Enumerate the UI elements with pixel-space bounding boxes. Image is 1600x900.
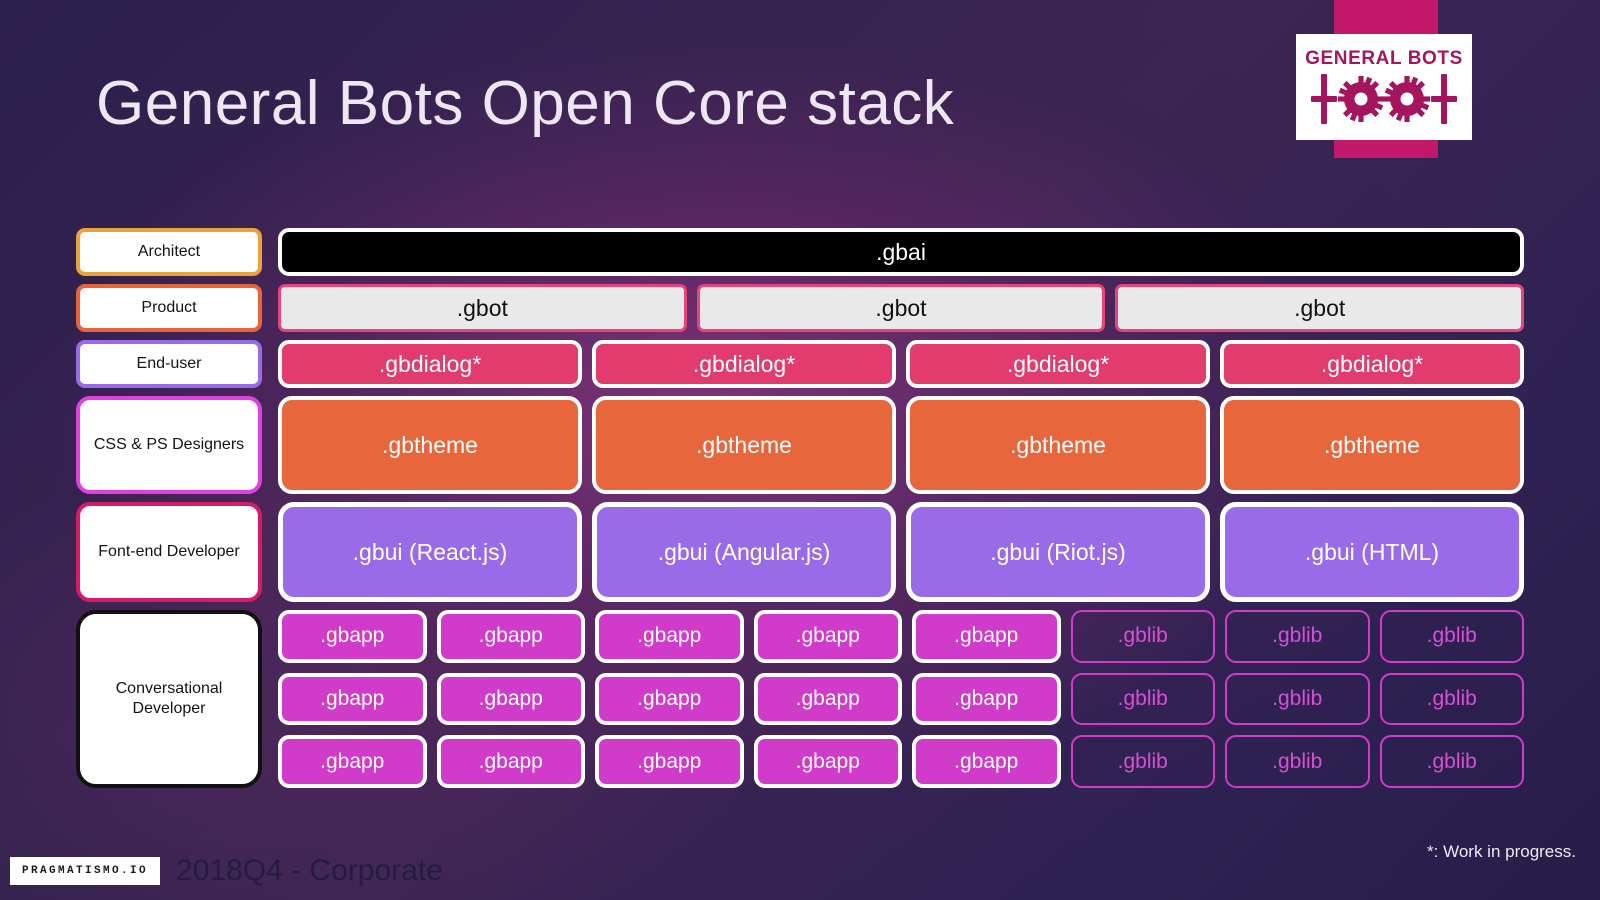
layer-box-gbapp[interactable]: .gbapp [437, 735, 586, 788]
conversational-grid: .gbapp .gbapp .gbapp .gbapp .gbapp .gbli… [278, 610, 1524, 788]
stack-row-enduser: End-user .gbdialog* .gbdialog* .gbdialog… [76, 340, 1524, 388]
role-label-product: Product [76, 284, 262, 332]
layer-box-gbapp[interactable]: .gbapp [437, 673, 586, 726]
layer-box-gbapp[interactable]: .gbapp [912, 610, 1061, 663]
role-label-designer: CSS & PS Designers [76, 396, 262, 494]
role-cell-frontend: Font-end Developer [76, 502, 262, 602]
conversational-grid-row: .gbapp .gbapp .gbapp .gbapp .gbapp .gbli… [278, 610, 1524, 663]
slide-canvas: GENERAL BOTS [0, 0, 1600, 900]
layer-box-gbtheme[interactable]: .gbtheme [906, 396, 1210, 494]
stack-row-architect: Architect .gbai [76, 228, 1524, 276]
layer-box-gbui[interactable]: .gbui (Angular.js) [592, 502, 896, 602]
stack-row-conversational: Conversational Developer .gbapp .gbapp .… [76, 610, 1524, 788]
layer-box-gbapp[interactable]: .gbapp [278, 610, 427, 663]
layer-box-gblib[interactable]: .gblib [1225, 735, 1370, 788]
layer-box-gbapp[interactable]: .gbapp [754, 610, 903, 663]
stack-row-designer: CSS & PS Designers .gbtheme .gbtheme .gb… [76, 396, 1524, 494]
layer-box-gbtheme[interactable]: .gbtheme [592, 396, 896, 494]
page-title: General Bots Open Core stack [96, 68, 954, 139]
stack-row-product: Product .gbot .gbot .gbot [76, 284, 1524, 332]
layer-box-gbapp[interactable]: .gbapp [595, 735, 744, 788]
layer-cells-gbtheme: .gbtheme .gbtheme .gbtheme .gbtheme [278, 396, 1524, 494]
layer-box-gbui[interactable]: .gbui (HTML) [1220, 502, 1524, 602]
layer-box-gbot[interactable]: .gbot [278, 284, 687, 332]
layer-box-gbui[interactable]: .gbui (React.js) [278, 502, 582, 602]
deck-label: 2018Q4 - Corporate [176, 854, 443, 888]
layer-box-gblib[interactable]: .gblib [1071, 673, 1216, 726]
role-cell-architect: Architect [76, 228, 262, 276]
layer-box-gbui[interactable]: .gbui (Riot.js) [906, 502, 1210, 602]
layer-cells-gbot: .gbot .gbot .gbot [278, 284, 1524, 332]
role-label-frontend: Font-end Developer [76, 502, 262, 602]
layer-cells-gbai: .gbai [278, 228, 1524, 276]
layer-box-gbot[interactable]: .gbot [1115, 284, 1524, 332]
layer-box-gbtheme[interactable]: .gbtheme [278, 396, 582, 494]
layer-box-gbot[interactable]: .gbot [697, 284, 1106, 332]
footnote-work-in-progress: *: Work in progress. [1427, 842, 1576, 862]
role-cell-product: Product [76, 284, 262, 332]
layer-box-gbtheme[interactable]: .gbtheme [1220, 396, 1524, 494]
layer-box-gbapp[interactable]: .gbapp [278, 735, 427, 788]
layer-box-gbapp[interactable]: .gbapp [437, 610, 586, 663]
layer-box-gbapp[interactable]: .gbapp [595, 673, 744, 726]
conversational-grid-row: .gbapp .gbapp .gbapp .gbapp .gbapp .gbli… [278, 735, 1524, 788]
role-cell-conversational: Conversational Developer [76, 610, 262, 788]
role-cell-enduser: End-user [76, 340, 262, 388]
pragmatismo-logo: PRAGMATISMO.IO [10, 857, 160, 885]
layer-box-gbai[interactable]: .gbai [278, 228, 1524, 276]
stack-row-frontend: Font-end Developer .gbui (React.js) .gbu… [76, 502, 1524, 602]
role-cell-designer: CSS & PS Designers [76, 396, 262, 494]
layer-box-gbapp[interactable]: .gbapp [754, 673, 903, 726]
layer-box-gbdialog[interactable]: .gbdialog* [906, 340, 1210, 388]
layer-box-gblib[interactable]: .gblib [1380, 610, 1525, 663]
conversational-grid-row: .gbapp .gbapp .gbapp .gbapp .gbapp .gbli… [278, 673, 1524, 726]
layer-box-gblib[interactable]: .gblib [1225, 610, 1370, 663]
stack-diagram: Architect .gbai Product .gbot .gbot .gbo… [76, 228, 1524, 796]
layer-box-gblib[interactable]: .gblib [1380, 735, 1525, 788]
layer-box-gbdialog[interactable]: .gbdialog* [1220, 340, 1524, 388]
layer-box-gblib[interactable]: .gblib [1071, 610, 1216, 663]
layer-box-gbapp[interactable]: .gbapp [912, 735, 1061, 788]
two-gears-between-bars-icon [1309, 72, 1459, 126]
layer-box-gbapp[interactable]: .gbapp [595, 610, 744, 663]
layer-box-gbdialog[interactable]: .gbdialog* [278, 340, 582, 388]
layer-box-gbdialog[interactable]: .gbdialog* [592, 340, 896, 388]
layer-box-gblib[interactable]: .gblib [1225, 673, 1370, 726]
layer-box-gbapp[interactable]: .gbapp [278, 673, 427, 726]
footer-left: PRAGMATISMO.IO 2018Q4 - Corporate [10, 854, 443, 888]
layer-box-gbapp[interactable]: .gbapp [912, 673, 1061, 726]
layer-box-gbapp[interactable]: .gbapp [754, 735, 903, 788]
layer-cells-gbdialog: .gbdialog* .gbdialog* .gbdialog* .gbdial… [278, 340, 1524, 388]
general-bots-logo: GENERAL BOTS [1296, 34, 1472, 140]
layer-box-gblib[interactable]: .gblib [1380, 673, 1525, 726]
role-label-enduser: End-user [76, 340, 262, 388]
layer-box-gblib[interactable]: .gblib [1071, 735, 1216, 788]
role-label-architect: Architect [76, 228, 262, 276]
layer-cells-gbui: .gbui (React.js) .gbui (Angular.js) .gbu… [278, 502, 1524, 602]
logo-wordmark: GENERAL BOTS [1305, 48, 1463, 70]
role-label-conversational: Conversational Developer [76, 610, 262, 788]
